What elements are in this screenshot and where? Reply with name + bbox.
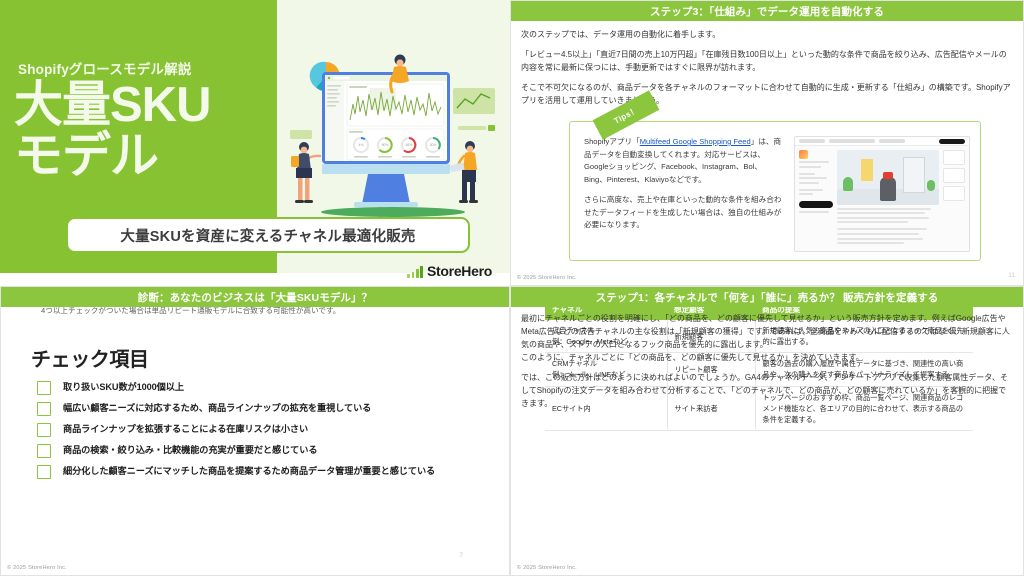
appstore-nav xyxy=(879,139,905,143)
thumbnail[interactable] xyxy=(943,168,965,183)
paragraph: では、この販売方針はどのように決めればよいのでしょうか。GA4のチャネルデータ、… xyxy=(521,372,1013,411)
list-item[interactable]: 細分化した顧客ニーズにマッチした商品を提案するため商品データ管理が重要と感じてい… xyxy=(37,464,509,479)
checklist-item-label: 幅広い顧客ニーズに対応するため、商品ラインナップの拡充を重視している xyxy=(63,401,371,415)
svg-text:65%: 65% xyxy=(406,143,413,147)
tips-text-before: Shopifyアプリ「 xyxy=(584,137,640,146)
tips-card: Tips！ Shopifyアプリ「Multifeed Google Shoppi… xyxy=(569,121,981,261)
appstore-install-button[interactable] xyxy=(799,201,833,208)
checklist-item-label: 商品ラインナップを拡張することによる在庫リスクは小さい xyxy=(63,422,308,436)
paragraph: 「レビュー4.5以上」「直近7日間の売上10万円超」「在庫残日数100日以上」と… xyxy=(521,49,1013,75)
thumbnail[interactable] xyxy=(943,186,965,201)
checkbox[interactable] xyxy=(37,402,51,416)
page-title: 大量SKU モデル xyxy=(14,80,274,182)
app-icon xyxy=(799,150,808,159)
checkbox[interactable] xyxy=(37,444,51,458)
slide-step3: ステップ3：「仕組み」でデータ運用を自動化する 次のステップでは、データ運用の自… xyxy=(510,0,1024,286)
shopify-appstore-screenshot xyxy=(794,136,970,252)
title-subtitle-pill: 大量SKUを資産に変えるチャネル最適化販売 xyxy=(66,217,470,253)
slide-footer: © 2025 StoreHero Inc. xyxy=(7,565,67,571)
checkbox[interactable] xyxy=(37,423,51,437)
list-item[interactable]: 商品ラインナップを拡張することによる在庫リスクは小さい xyxy=(37,422,509,437)
logo-wordmark: StoreHero xyxy=(427,264,492,278)
checklist-title: チェック項目 xyxy=(31,343,509,372)
checkbox[interactable] xyxy=(37,381,51,395)
slide-body: 最初にチャネルごとの役割を明確にし、「どの商品を、どの顧客に優先して見せるか」と… xyxy=(511,307,1023,575)
multifeed-app-link[interactable]: Multifeed Google Shopping Feed xyxy=(640,137,751,146)
checklist: 取り扱いSKU数が1000個以上 幅広い顧客ニーズに対応するため、商品ラインナッ… xyxy=(37,380,509,479)
storehero-logo: StoreHero xyxy=(407,264,492,278)
slide-header: ステップ1：各チャネルで「何を」「誰に」売るか？ 販売方針を定義する xyxy=(511,287,1023,307)
paragraph: そこで不可欠になるのが、商品データを各チャネルのフォーマットに合わせて自動的に生… xyxy=(521,82,1013,108)
checklist-item-label: 取り扱いSKU数が1000個以上 xyxy=(63,380,184,394)
dashboard-analytics-illustration: 4%80% 65%30% xyxy=(290,52,495,222)
appstore-logo xyxy=(799,139,825,143)
title-eyebrow: Shopifyグロースモデル解説 xyxy=(18,58,192,78)
appstore-sidebar xyxy=(799,150,833,244)
slide-footer: © 2025 StoreHero Inc. xyxy=(517,275,577,281)
page-number: 11 xyxy=(1008,272,1015,279)
appstore-main-column xyxy=(837,150,939,244)
slide-footer: © 2025 StoreHero Inc. xyxy=(517,565,577,571)
list-item[interactable]: 商品の検索・絞り込み・比較機能の充実が重要だと感じている xyxy=(37,443,509,458)
slide-header: 診断：あなたのビジネスは「大量SKUモデル」？ xyxy=(1,287,509,307)
slide-title: Shopifyグロースモデル解説 大量SKU モデル xyxy=(0,0,510,286)
slide-grid: Shopifyグロースモデル解説 大量SKU モデル xyxy=(0,0,1024,576)
svg-text:80%: 80% xyxy=(382,143,389,147)
bar-chart-icon xyxy=(407,265,423,278)
slide-header: ステップ3：「仕組み」でデータ運用を自動化する xyxy=(511,1,1023,21)
page-number: 7 xyxy=(459,552,463,559)
tips-paragraph-2: さらに高度な、売上や在庫といった動的な条件を組み合わせたデータフィードを生成した… xyxy=(584,194,784,232)
slide-diagnosis: 診断：あなたのビジネスは「大量SKUモデル」？ チェック項目を確認し、当てはまる… xyxy=(0,286,510,576)
list-item[interactable]: 幅広い顧客ニーズに対応するため、商品ラインナップの拡充を重視している xyxy=(37,401,509,416)
checklist-item-label: 商品の検索・絞り込み・比較機能の充実が重要だと感じている xyxy=(63,443,317,457)
paragraph: 次のステップでは、データ運用の自動化に着手します。 xyxy=(521,29,1013,42)
appstore-cta-button[interactable] xyxy=(939,139,965,144)
app-hero-video[interactable] xyxy=(837,150,939,205)
slide-step1: ステップ1：各チャネルで「何を」「誰に」売るか？ 販売方針を定義する 最初にチャ… xyxy=(510,286,1024,576)
play-icon[interactable] xyxy=(883,172,893,179)
checklist-item-label: 細分化した顧客ニーズにマッチした商品を提案するため商品データ管理が重要と感じてい… xyxy=(63,464,435,478)
tips-paragraph-1: Shopifyアプリ「Multifeed Google Shopping Fee… xyxy=(584,136,784,186)
checkbox[interactable] xyxy=(37,465,51,479)
paragraph: 最初にチャネルごとの役割を明確にし、「どの商品を、どの顧客に優先して見せるか」と… xyxy=(521,313,1013,365)
thumbnail[interactable] xyxy=(943,150,965,165)
appstore-search xyxy=(829,139,875,143)
svg-text:4%: 4% xyxy=(359,143,364,147)
tips-text: Shopifyアプリ「Multifeed Google Shopping Fee… xyxy=(584,136,784,252)
list-item[interactable]: 取り扱いSKU数が1000個以上 xyxy=(37,380,509,395)
appstore-topbar xyxy=(795,137,969,146)
svg-text:30%: 30% xyxy=(430,143,437,147)
appstore-thumbnails xyxy=(943,150,965,244)
